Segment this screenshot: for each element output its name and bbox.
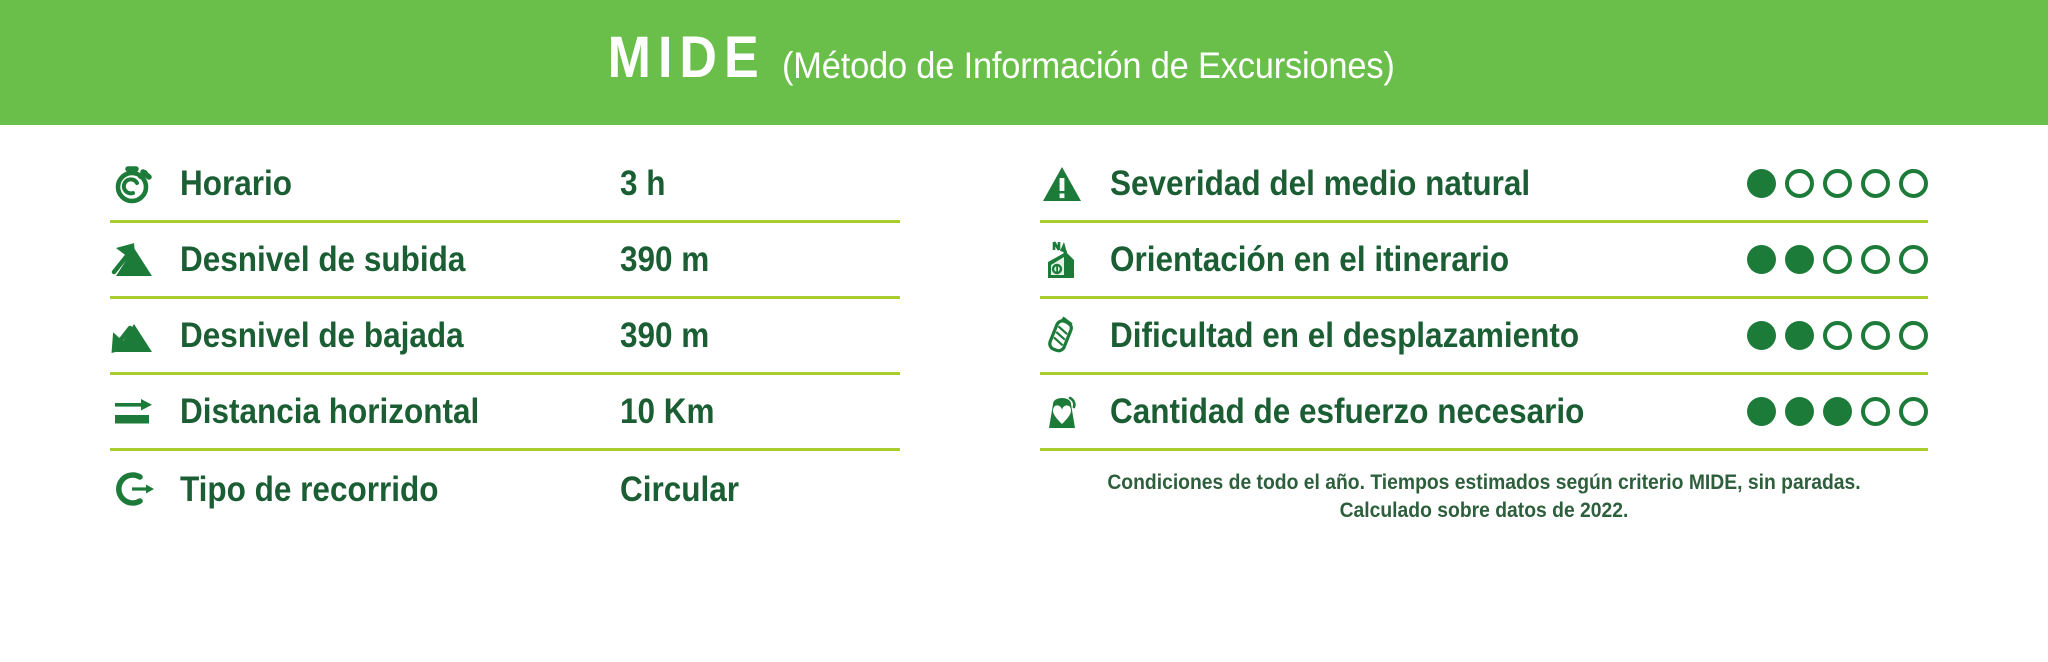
mide-header-banner: MIDE (Método de Información de Excursion… — [0, 0, 2048, 125]
mide-right-column: Severidad del medio natural — [1020, 147, 2048, 527]
table-row: Desnivel de subida 390 m — [110, 223, 900, 299]
mountain-downhill-icon — [110, 316, 180, 356]
rating-dots — [1747, 397, 1928, 426]
row-label: Tipo de recorrido — [180, 472, 576, 507]
row-value: 3 h — [620, 166, 666, 201]
rating-dots — [1747, 245, 1928, 274]
row-label: Desnivel de subida — [180, 242, 576, 277]
rating-dot-filled — [1785, 245, 1814, 274]
hiking-boot-icon — [1040, 313, 1110, 359]
rating-dot-filled — [1785, 397, 1814, 426]
rating-dot-filled — [1747, 397, 1776, 426]
rating-dot-empty — [1899, 397, 1928, 426]
rating-dot-empty — [1861, 397, 1890, 426]
backpack-icon — [1040, 390, 1110, 434]
map-compass-icon — [1040, 238, 1110, 282]
rating-dot-filled — [1785, 321, 1814, 350]
rating-dot-empty — [1861, 169, 1890, 198]
row-label: Horario — [180, 166, 576, 201]
footnote-line-1: Condiciones de todo el año. Tiempos esti… — [1076, 469, 1893, 497]
table-row: Desnivel de bajada 390 m — [110, 299, 900, 375]
row-value: 10 Km — [620, 394, 715, 429]
table-row: Horario 3 h — [110, 147, 900, 223]
row-label: Orientación en el itinerario — [1110, 242, 1632, 277]
rating-dot-empty — [1899, 169, 1928, 198]
footnote: Condiciones de todo el año. Tiempos esti… — [1076, 469, 1893, 526]
stopwatch-icon — [110, 161, 180, 207]
mide-subtitle: (Método de Información de Excursiones) — [782, 47, 1395, 84]
table-row: Distancia horizontal 10 Km — [110, 375, 900, 451]
rating-dot-empty — [1785, 169, 1814, 198]
row-value: 390 m — [620, 242, 709, 277]
rating-dot-empty — [1861, 321, 1890, 350]
rating-dot-empty — [1899, 245, 1928, 274]
rating-dot-empty — [1823, 321, 1852, 350]
row-value: Circular — [620, 472, 739, 507]
row-label: Distancia horizontal — [180, 394, 576, 429]
table-row: Orientación en el itinerario — [1040, 223, 1928, 299]
circular-route-icon — [110, 467, 180, 511]
rating-dot-filled — [1747, 169, 1776, 198]
horizontal-arrow-icon — [110, 395, 180, 429]
rating-dot-empty — [1861, 245, 1890, 274]
mountain-uphill-icon — [110, 240, 180, 280]
footnote-line-2: Calculado sobre datos de 2022. — [1076, 497, 1893, 525]
row-label: Dificultad en el desplazamiento — [1110, 318, 1632, 353]
table-row: Dificultad en el desplazamiento — [1040, 299, 1928, 375]
table-row: Severidad del medio natural — [1040, 147, 1928, 223]
mide-left-column: Horario 3 h Desnivel de subida 390 m — [0, 147, 1020, 527]
row-label: Severidad del medio natural — [1110, 166, 1632, 201]
rating-dot-filled — [1823, 397, 1852, 426]
table-row: Tipo de recorrido Circular — [110, 451, 900, 527]
rating-dot-filled — [1747, 321, 1776, 350]
mide-body: Horario 3 h Desnivel de subida 390 m — [0, 125, 2048, 527]
mide-brand-title: MIDE — [608, 28, 766, 86]
row-label: Cantidad de esfuerzo necesario — [1110, 394, 1632, 429]
row-value: 390 m — [620, 318, 709, 353]
rating-dot-filled — [1747, 245, 1776, 274]
rating-dot-empty — [1823, 245, 1852, 274]
table-row: Cantidad de esfuerzo necesario — [1040, 375, 1928, 451]
rating-dots — [1747, 169, 1928, 198]
rating-dots — [1747, 321, 1928, 350]
rating-dot-empty — [1823, 169, 1852, 198]
rating-dot-empty — [1899, 321, 1928, 350]
row-label: Desnivel de bajada — [180, 318, 576, 353]
warning-triangle-icon — [1040, 163, 1110, 205]
mide-infographic-card: MIDE (Método de Información de Excursion… — [0, 0, 2048, 662]
